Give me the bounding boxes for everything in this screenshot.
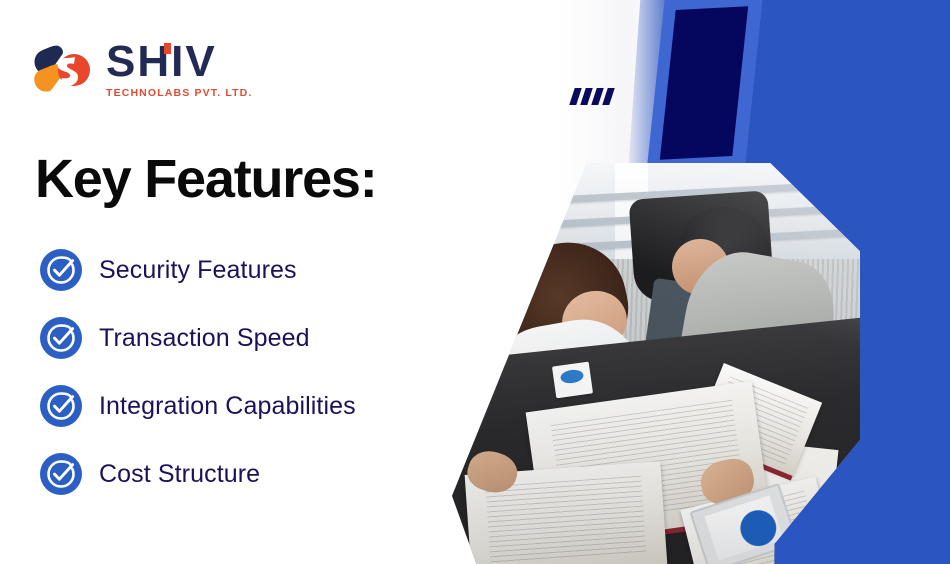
check-circle-icon [40,385,82,427]
list-item: Integration Capabilities [40,384,440,428]
team-photo [452,163,860,564]
photo-lighting-overlay [452,163,860,564]
check-circle-icon [40,317,82,359]
list-item: Security Features [40,248,440,292]
brand-name: SHIV [106,41,217,83]
check-circle-icon [40,453,82,495]
feature-label: Transaction Speed [99,324,310,353]
brand-logo[interactable]: SHIV TECHNOLABS PVT. LTD. [34,41,252,98]
dash-bar-4 [602,88,615,105]
feature-label: Integration Capabilities [99,392,356,421]
logo-i-dot [164,43,171,54]
decorative-dashes [572,88,612,105]
photo-scene [452,163,860,564]
feature-label: Cost Structure [99,460,260,489]
logo-text-block: SHIV TECHNOLABS PVT. LTD. [106,41,252,98]
brand-tagline: TECHNOLABS PVT. LTD. [106,88,252,99]
feature-label: Security Features [99,256,297,285]
check-circle-icon [40,249,82,291]
slide-root: SHIV TECHNOLABS PVT. LTD. Key Features: … [0,0,950,564]
list-item: Cost Structure [40,452,440,496]
shiv-logo-mark-icon [34,45,96,95]
list-item: Transaction Speed [40,316,440,360]
page-title: Key Features: [35,148,377,210]
feature-list: Security Features Transaction Speed Inte… [40,248,440,520]
